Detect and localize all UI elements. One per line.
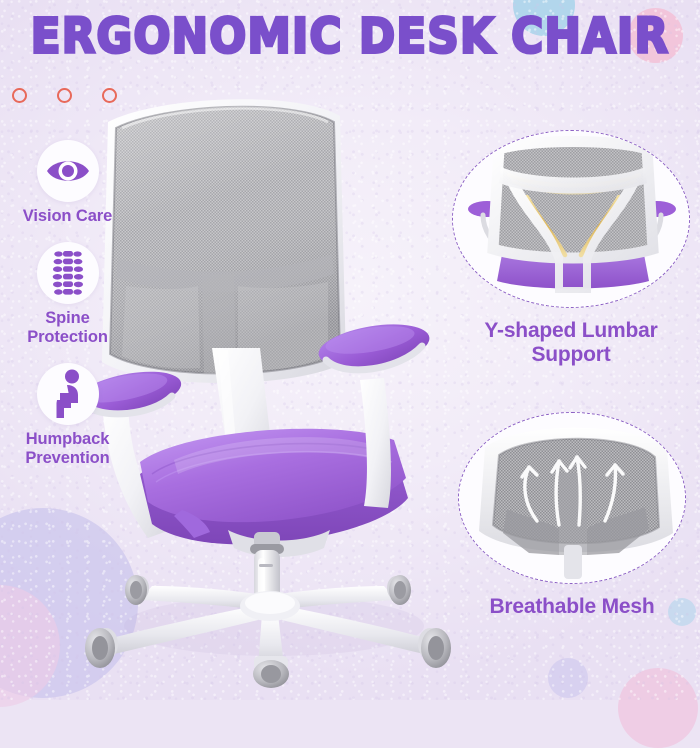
feature-label-humpback: Humpback Prevention [0, 430, 135, 467]
callout-lumbar-support: Y-shaped Lumbar Support [452, 130, 690, 367]
feature-vision-care: Vision Care [0, 140, 135, 225]
feature-icon-badge [37, 363, 99, 425]
caster-rear-right [387, 575, 411, 605]
callout-lumbar-image [452, 130, 690, 308]
ring-dot-1 [12, 88, 27, 103]
seated-person-icon [47, 369, 89, 419]
feature-list: Vision Care [0, 140, 135, 484]
ring-dot-2 [57, 88, 72, 103]
feature-icon-badge [37, 242, 99, 304]
ring-dot-3 [102, 88, 117, 103]
feature-spine-protection: Spine Protection [0, 242, 135, 346]
caster-rear-left [125, 575, 149, 605]
spine-icon [51, 249, 85, 297]
caster-left [85, 628, 118, 668]
feature-label-spine: Spine Protection [0, 309, 135, 346]
feature-label-vision: Vision Care [0, 207, 135, 225]
callout-lumbar-label: Y-shaped Lumbar Support [452, 319, 690, 367]
callout-lumbar-label-line1: Y-shaped Lumbar [452, 319, 690, 343]
product-image-chair [78, 78, 478, 668]
caster-front [253, 656, 289, 688]
chair-back-y-support-closeup [453, 131, 690, 308]
callout-mesh-label: Breathable Mesh [458, 595, 686, 619]
feature-humpback-prevention: Humpback Prevention [0, 363, 135, 467]
eye-icon [45, 156, 91, 186]
callout-mesh-image [458, 412, 686, 584]
callout-lumbar-label-line2: Support [452, 343, 690, 367]
feature-label-humpback-line2: Prevention [0, 449, 135, 467]
decorative-rings [12, 88, 117, 103]
callout-breathable-mesh: Breathable Mesh [458, 412, 686, 619]
feature-label-humpback-line1: Humpback [0, 430, 135, 448]
feature-label-spine-line1: Spine [0, 309, 135, 327]
feature-label-spine-line2: Protection [0, 328, 135, 346]
chair-illustration [78, 78, 478, 668]
mesh-back-airflow-closeup [459, 413, 686, 584]
feature-icon-badge [37, 140, 99, 202]
caster-right [418, 628, 451, 668]
page-title: ERGONOMIC DESK CHAIR [0, 8, 700, 64]
title-container: ERGONOMIC DESK CHAIR [0, 12, 700, 60]
